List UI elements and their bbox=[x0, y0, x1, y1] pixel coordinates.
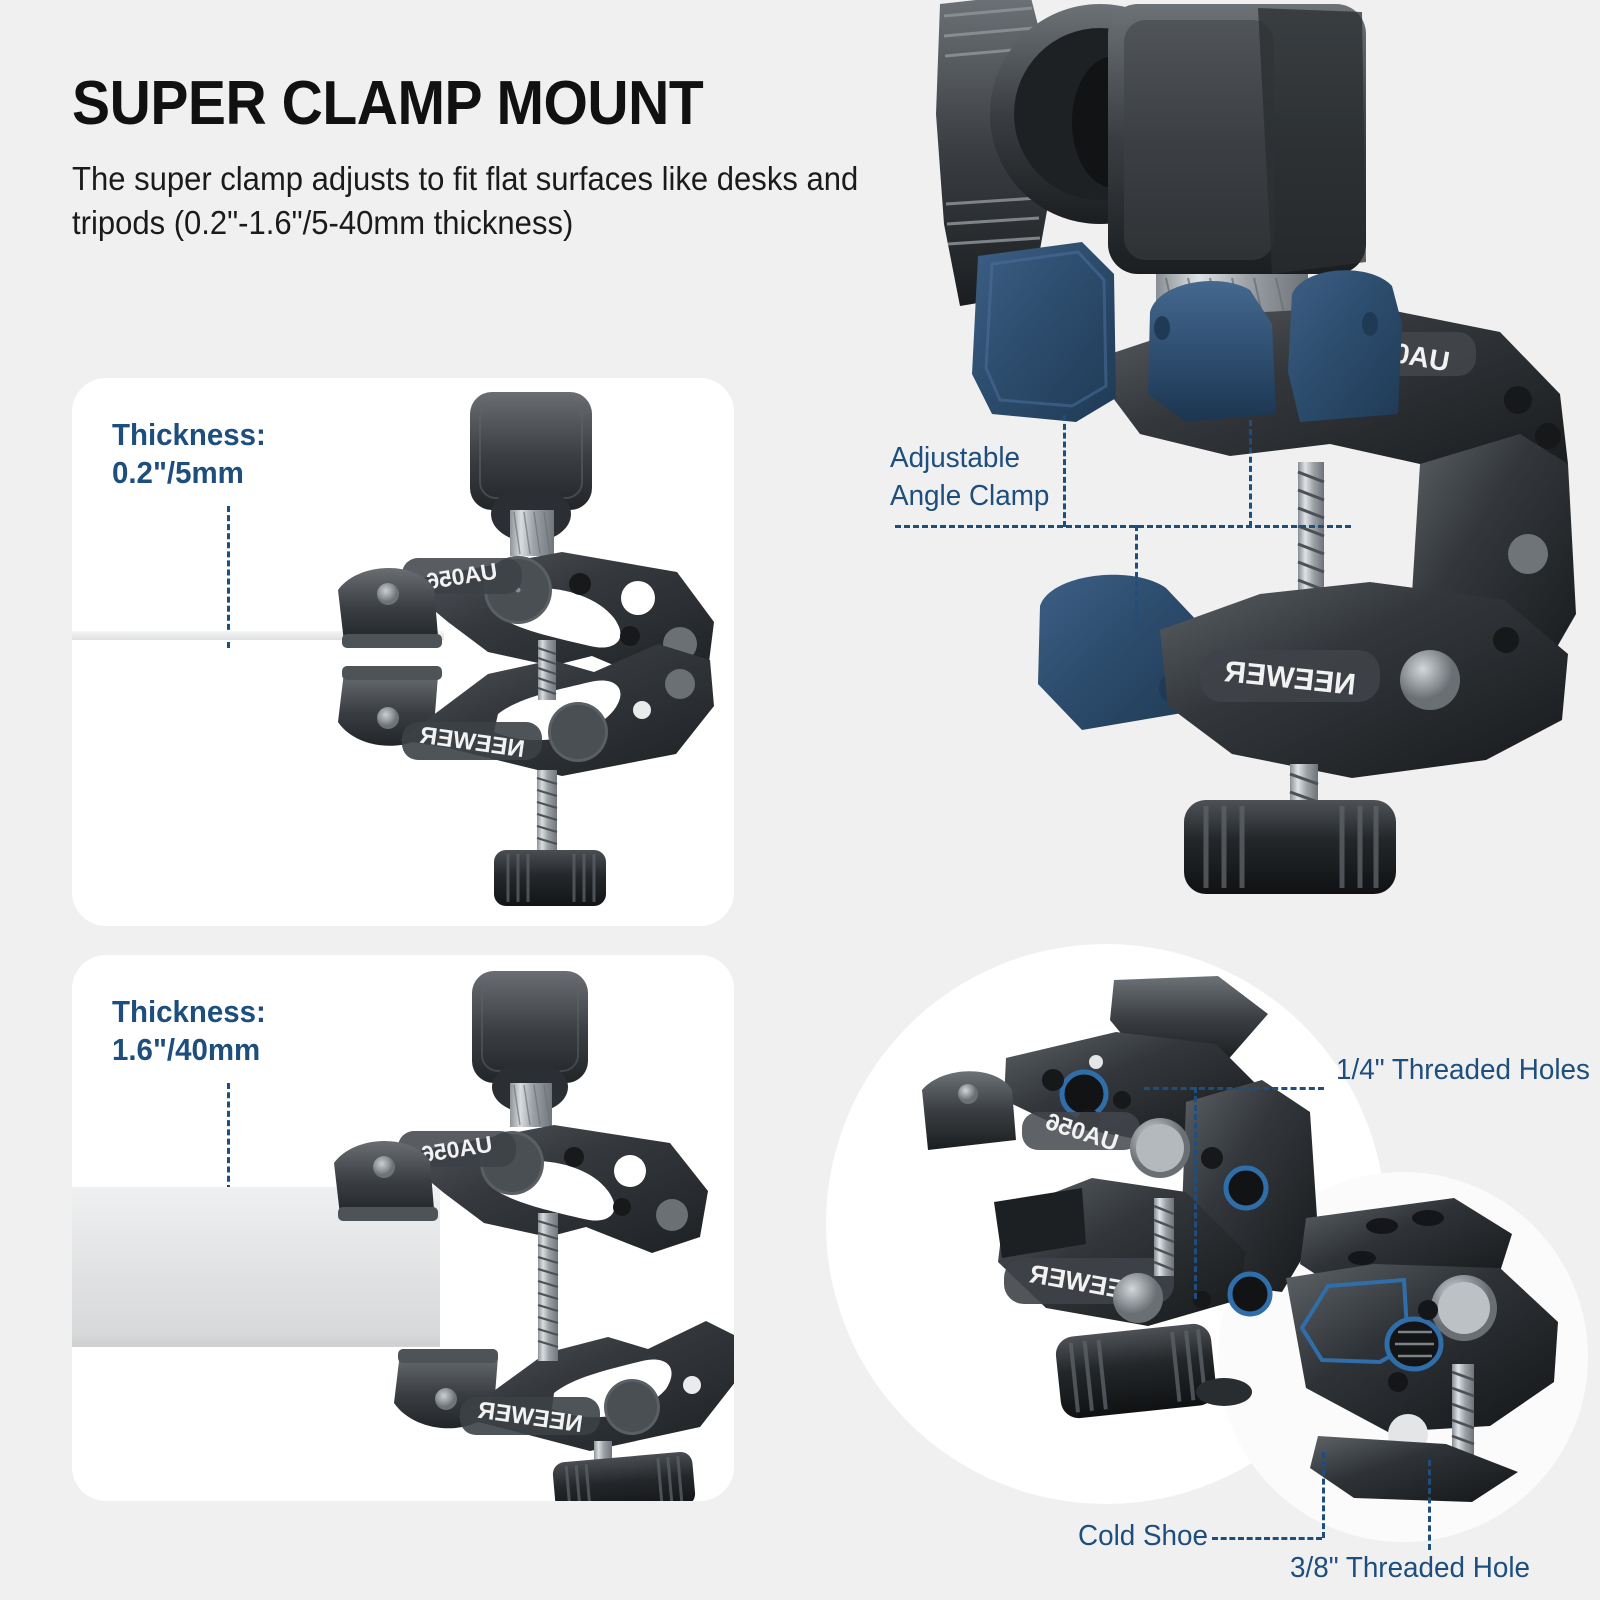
header-block: SUPER CLAMP MOUNT The super clamp adjust… bbox=[72, 72, 892, 244]
thickness-label-thin: Thickness: 0.2"/5mm bbox=[112, 416, 266, 493]
callout-three-eighths-threaded-hole: 3/8" Threaded Hole bbox=[1290, 1550, 1597, 1588]
callout-line-angle-clamp-horizontal bbox=[895, 525, 1351, 528]
clamp-illustration-thick: UA056 NEEWER bbox=[340, 965, 734, 1495]
card-thick-surface: Thickness: 1.6"/40mm bbox=[72, 955, 734, 1501]
threaded-hole-highlight-mid bbox=[1226, 1168, 1266, 1208]
callout-line-quarter-holes-horizontal bbox=[1144, 1087, 1324, 1090]
callout-line-three-eighths-branch bbox=[1428, 1460, 1431, 1550]
blue-angle-pad-right bbox=[1288, 270, 1402, 422]
card-thin-surface: Thickness: 0.2"/5mm bbox=[72, 378, 734, 926]
clamp-illustration-thin: UA056 NEEWER bbox=[342, 384, 734, 924]
callout-quarter-threaded-holes: 1/4" Threaded Holes bbox=[1336, 1052, 1595, 1090]
thickness-label-thick: Thickness: 1.6"/40mm bbox=[112, 993, 266, 1070]
page-title: SUPER CLAMP MOUNT bbox=[72, 72, 826, 135]
callout-line-cold-shoe-branch bbox=[1322, 1452, 1325, 1538]
page-subtitle: The super clamp adjusts to fit flat surf… bbox=[72, 157, 880, 244]
callout-line-angle-clamp-branch-c bbox=[1135, 525, 1138, 625]
callout-line-angle-clamp-branch-b bbox=[1249, 420, 1252, 527]
blue-angle-pad-middle bbox=[1148, 281, 1276, 422]
callout-cold-shoe: Cold Shoe bbox=[1078, 1518, 1251, 1556]
thickness-guide-line-thin bbox=[227, 506, 230, 648]
zoom-detail-clamp-illustration bbox=[1262, 1182, 1582, 1512]
thickness-guide-line-thick bbox=[227, 1083, 230, 1191]
callout-line-quarter-holes-branch bbox=[1194, 1087, 1197, 1299]
callout-adjustable-angle-clamp: Adjustable Angle Clamp bbox=[890, 440, 1178, 515]
quarter-threaded-hole-highlight bbox=[1062, 1072, 1106, 1116]
